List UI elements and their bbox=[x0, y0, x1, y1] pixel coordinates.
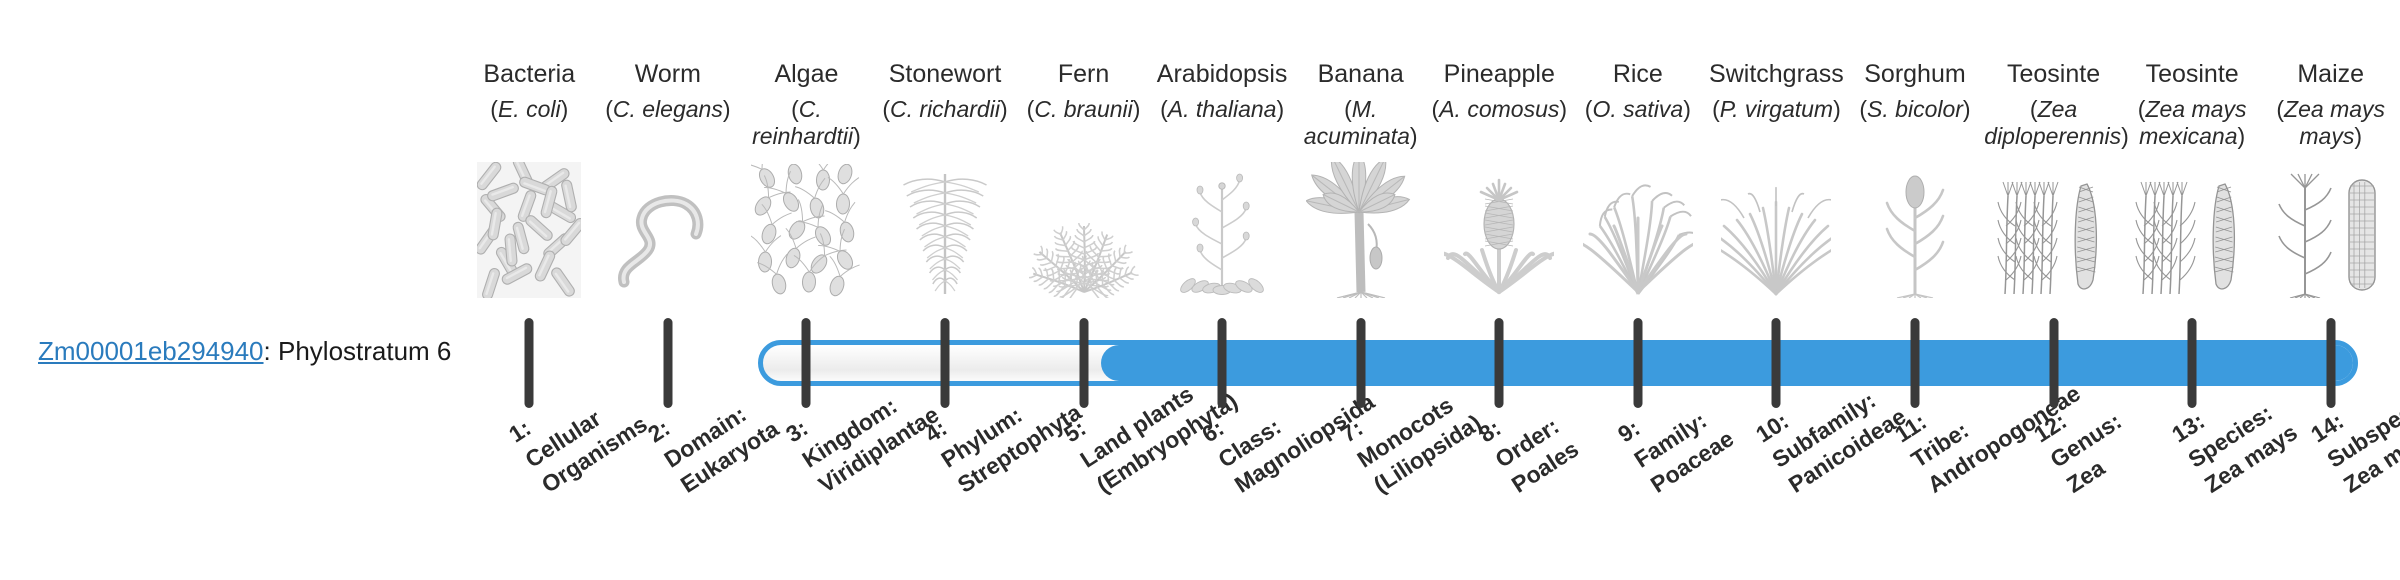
phylostratum-tick[interactable] bbox=[663, 318, 672, 408]
species-common-name: Worm bbox=[599, 60, 738, 88]
species-scientific-name: (P. virgatum) bbox=[1707, 96, 1846, 123]
species-common-name: Pineapple bbox=[1430, 60, 1569, 88]
teosinte-mexicana-illustration bbox=[2123, 168, 2262, 298]
species-scientific-name: (C. reinhardtii) bbox=[737, 96, 876, 150]
phylostratum-tick[interactable] bbox=[1772, 318, 1781, 408]
phylostratum-tick[interactable] bbox=[1633, 318, 1642, 408]
gene-phylostratum-label: Zm00001eb294940: Phylostratum 6 bbox=[38, 336, 458, 366]
maize-illustration bbox=[2261, 168, 2400, 298]
phylostratum-tick[interactable] bbox=[2326, 318, 2335, 408]
nematode-worm-illustration bbox=[599, 168, 738, 298]
species-scientific-name: (C. elegans) bbox=[599, 96, 738, 123]
phylostratum-tick[interactable] bbox=[1218, 318, 1227, 408]
species-common-name: Fern bbox=[1014, 60, 1153, 88]
species-common-name: Switchgrass bbox=[1707, 60, 1846, 88]
species-common-name: Banana bbox=[1291, 60, 1430, 88]
species-common-name: Algae bbox=[737, 60, 876, 88]
species-common-name: Maize bbox=[2261, 60, 2400, 88]
phylostratum-tick[interactable] bbox=[1495, 318, 1504, 408]
stonewort-illustration bbox=[876, 168, 1015, 298]
species-common-name: Arabidopsis bbox=[1153, 60, 1292, 88]
phylostratum-value: Phylostratum 6 bbox=[278, 336, 451, 366]
gene-label-separator: : bbox=[264, 336, 278, 366]
bacteria-illustration bbox=[460, 168, 599, 298]
species-scientific-name: (Zea mays mays) bbox=[2261, 96, 2400, 150]
banana-plant-illustration bbox=[1291, 168, 1430, 298]
phylostratum-tick[interactable] bbox=[802, 318, 811, 408]
species-common-name: Teosinte bbox=[1984, 60, 2123, 88]
species-common-name: Stonewort bbox=[876, 60, 1015, 88]
switchgrass-illustration bbox=[1707, 168, 1846, 298]
phylostratum-tick[interactable] bbox=[1356, 318, 1365, 408]
species-common-name: Bacteria bbox=[460, 60, 599, 88]
phylostratum-timeline: Zm00001eb294940: Phylostratum 6 Bacteria… bbox=[0, 0, 2400, 580]
species-scientific-name: (Zea diploperennis) bbox=[1984, 96, 2123, 150]
species-scientific-name: (C. richardii) bbox=[876, 96, 1015, 123]
sorghum-illustration bbox=[1846, 168, 1985, 298]
phylostratum-tick[interactable] bbox=[525, 318, 534, 408]
species-scientific-name: (O. sativa) bbox=[1569, 96, 1708, 123]
species-scientific-name: (C. braunii) bbox=[1014, 96, 1153, 123]
species-scientific-name: (A. thaliana) bbox=[1153, 96, 1292, 123]
species-scientific-name: (Zea mays mexicana) bbox=[2123, 96, 2262, 150]
phylostratum-tick[interactable] bbox=[1911, 318, 1920, 408]
phylostratum-tick[interactable] bbox=[2049, 318, 2058, 408]
species-common-name: Rice bbox=[1569, 60, 1708, 88]
rice-plant-illustration bbox=[1569, 168, 1708, 298]
species-scientific-name: (S. bicolor) bbox=[1846, 96, 1985, 123]
species-common-name: Sorghum bbox=[1846, 60, 1985, 88]
phylostratum-tick[interactable] bbox=[941, 318, 950, 408]
arabidopsis-illustration bbox=[1153, 168, 1292, 298]
phylostratum-tick[interactable] bbox=[1079, 318, 1088, 408]
species-scientific-name: (M. acuminata) bbox=[1291, 96, 1430, 150]
teosinte-diploperennis-illustration bbox=[1984, 168, 2123, 298]
green-algae-illustration bbox=[737, 168, 876, 298]
fern-illustration bbox=[1014, 168, 1153, 298]
species-common-name: Teosinte bbox=[2123, 60, 2262, 88]
species-scientific-name: (E. coli) bbox=[460, 96, 599, 123]
species-column: Bacteria(E. coli) bbox=[460, 0, 599, 580]
species-scientific-name: (A. comosus) bbox=[1430, 96, 1569, 123]
gene-id-link[interactable]: Zm00001eb294940 bbox=[38, 336, 264, 366]
pineapple-illustration bbox=[1430, 168, 1569, 298]
phylostratum-tick[interactable] bbox=[2188, 318, 2197, 408]
